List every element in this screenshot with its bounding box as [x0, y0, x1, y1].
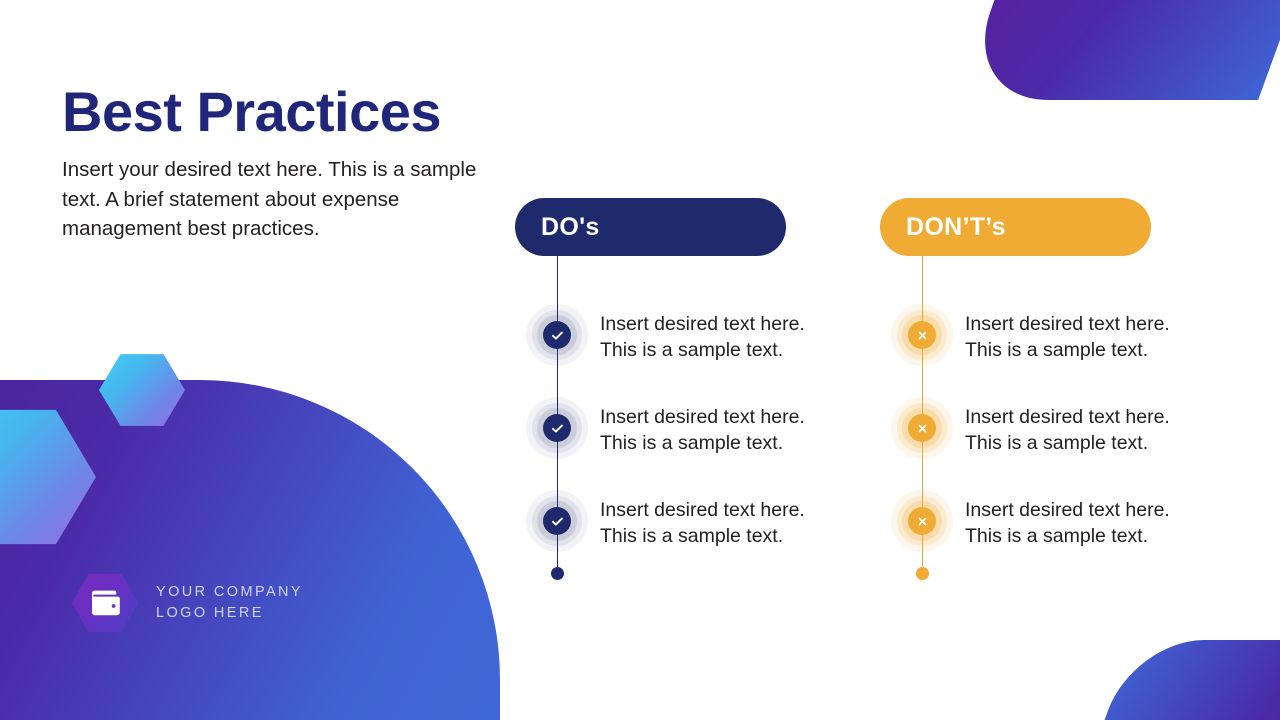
title-block: Best Practices Insert your desired text … — [62, 82, 482, 243]
list-item-line-1: Insert desired text here. — [965, 405, 1170, 431]
decorative-shape-top-right — [958, 0, 1280, 100]
list-item-line-2: This is a sample text. — [965, 338, 1170, 364]
list-item-text: Insert desired text here. This is a samp… — [600, 498, 805, 549]
list-item-text: Insert desired text here. This is a samp… — [965, 312, 1170, 363]
column-donts: DON’T’s Insert desired text here. — [880, 198, 1210, 571]
list-item[interactable]: Insert desired text here. This is a samp… — [880, 385, 1210, 478]
list-item[interactable]: Insert desired text here. This is a samp… — [515, 385, 845, 478]
timeline-donts: Insert desired text here. This is a samp… — [880, 256, 1210, 571]
list-item-line-2: This is a sample text. — [965, 524, 1170, 550]
timeline-dos: Insert desired text here. This is a samp… — [515, 256, 845, 571]
page-subtitle: Insert your desired text here. This is a… — [62, 155, 482, 243]
column-dos: DO's Insert desired text here. — [515, 198, 845, 571]
marker-donts — [879, 478, 965, 564]
check-circle-icon — [543, 321, 571, 349]
check-circle-icon — [543, 414, 571, 442]
slide-canvas: Best Practices Insert your desired text … — [0, 0, 1280, 720]
decorative-blob-bottom-left — [0, 380, 500, 720]
logo-text: YOUR COMPANY LOGO HERE — [156, 582, 303, 623]
page-title: Best Practices — [62, 82, 482, 142]
marker-dos — [514, 385, 600, 471]
list-item-line-1: Insert desired text here. — [600, 405, 805, 431]
x-circle-icon — [908, 414, 936, 442]
list-item-line-1: Insert desired text here. — [600, 312, 805, 338]
list-item-line-2: This is a sample text. — [600, 524, 805, 550]
list-item-line-1: Insert desired text here. — [965, 312, 1170, 338]
logo-text-line-1: YOUR COMPANY — [156, 582, 303, 603]
heading-pill-dos[interactable]: DO's — [515, 198, 786, 256]
list-item-line-1: Insert desired text here. — [965, 498, 1170, 524]
decorative-hexagon-large — [0, 404, 96, 550]
check-icon — [550, 514, 565, 529]
x-icon — [916, 515, 929, 528]
decorative-shape-bottom-right — [1090, 640, 1280, 720]
hexagon-icon — [99, 351, 185, 429]
marker-donts — [879, 385, 965, 471]
marker-dos — [514, 292, 600, 378]
marker-donts — [879, 292, 965, 378]
list-item-line-2: This is a sample text. — [965, 431, 1170, 457]
marker-dos — [514, 478, 600, 564]
list-item[interactable]: Insert desired text here. This is a samp… — [880, 292, 1210, 385]
list-item-text: Insert desired text here. This is a samp… — [965, 405, 1170, 456]
list-item-text: Insert desired text here. This is a samp… — [600, 405, 805, 456]
wallet-icon — [89, 590, 121, 616]
list-item[interactable]: Insert desired text here. This is a samp… — [880, 478, 1210, 571]
decorative-hexagon-small — [99, 351, 185, 429]
check-icon — [550, 421, 565, 436]
hexagon-icon — [0, 404, 96, 550]
list-item-text: Insert desired text here. This is a samp… — [600, 312, 805, 363]
list-item[interactable]: Insert desired text here. This is a samp… — [515, 478, 845, 571]
company-logo: YOUR COMPANY LOGO HERE — [72, 572, 303, 634]
list-item-line-2: This is a sample text. — [600, 338, 805, 364]
heading-pill-donts[interactable]: DON’T’s — [880, 198, 1151, 256]
check-circle-icon — [543, 507, 571, 535]
list-item[interactable]: Insert desired text here. This is a samp… — [515, 292, 845, 385]
list-item-line-2: This is a sample text. — [600, 431, 805, 457]
list-item-line-1: Insert desired text here. — [600, 498, 805, 524]
logo-text-line-2: LOGO HERE — [156, 603, 303, 624]
x-icon — [916, 329, 929, 342]
x-icon — [916, 422, 929, 435]
x-circle-icon — [908, 321, 936, 349]
logo-hexagon — [72, 572, 138, 634]
x-circle-icon — [908, 507, 936, 535]
check-icon — [550, 328, 565, 343]
list-item-text: Insert desired text here. This is a samp… — [965, 498, 1170, 549]
